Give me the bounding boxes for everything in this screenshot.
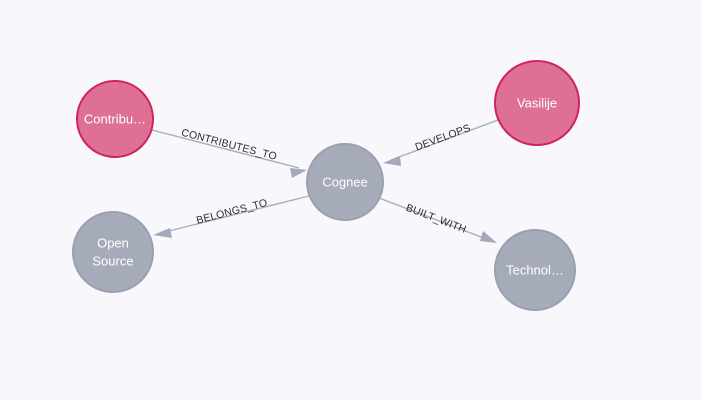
arrowhead-belongs-to bbox=[153, 228, 172, 238]
node-circle-cognee[interactable] bbox=[307, 144, 383, 220]
edge-label-contributes-to: CONTRIBUTES_TO bbox=[180, 127, 278, 163]
node-vasilije[interactable]: Vasilije bbox=[495, 61, 579, 145]
node-layer: Contribu… Vasilije Cognee Open Source Te… bbox=[73, 61, 579, 310]
edge-line-belongs-to bbox=[161, 196, 309, 233]
edge-line-built-with bbox=[379, 198, 489, 240]
node-circle-technology[interactable] bbox=[495, 230, 575, 310]
edge-belongs-to[interactable]: BELONGS_TO bbox=[153, 196, 309, 238]
node-open-source[interactable]: Open Source bbox=[73, 212, 153, 292]
graph-canvas[interactable]: CONTRIBUTES_TO DEVELOPS BELONGS_TO BUILT… bbox=[0, 0, 702, 400]
edge-built-with[interactable]: BUILT_WITH bbox=[379, 198, 497, 243]
node-circle-open-source[interactable] bbox=[73, 212, 153, 292]
arrowhead-develops bbox=[383, 156, 401, 166]
edge-line-contributes-to bbox=[152, 130, 299, 168]
node-cognee[interactable]: Cognee bbox=[307, 144, 383, 220]
graph-visualization[interactable]: CONTRIBUTES_TO DEVELOPS BELONGS_TO BUILT… bbox=[0, 0, 702, 400]
edge-label-built-with: BUILT_WITH bbox=[404, 202, 468, 236]
arrowhead-built-with bbox=[480, 231, 497, 243]
edge-line-develops bbox=[391, 120, 498, 160]
edge-contributes-to[interactable]: CONTRIBUTES_TO bbox=[152, 127, 307, 178]
edge-develops[interactable]: DEVELOPS bbox=[383, 120, 498, 166]
node-circle-contributor[interactable] bbox=[77, 81, 153, 157]
node-circle-vasilije[interactable] bbox=[495, 61, 579, 145]
node-technology[interactable]: Technol… bbox=[495, 230, 575, 310]
arrowhead-contributes-to bbox=[290, 168, 307, 178]
node-contributor[interactable]: Contribu… bbox=[77, 81, 153, 157]
